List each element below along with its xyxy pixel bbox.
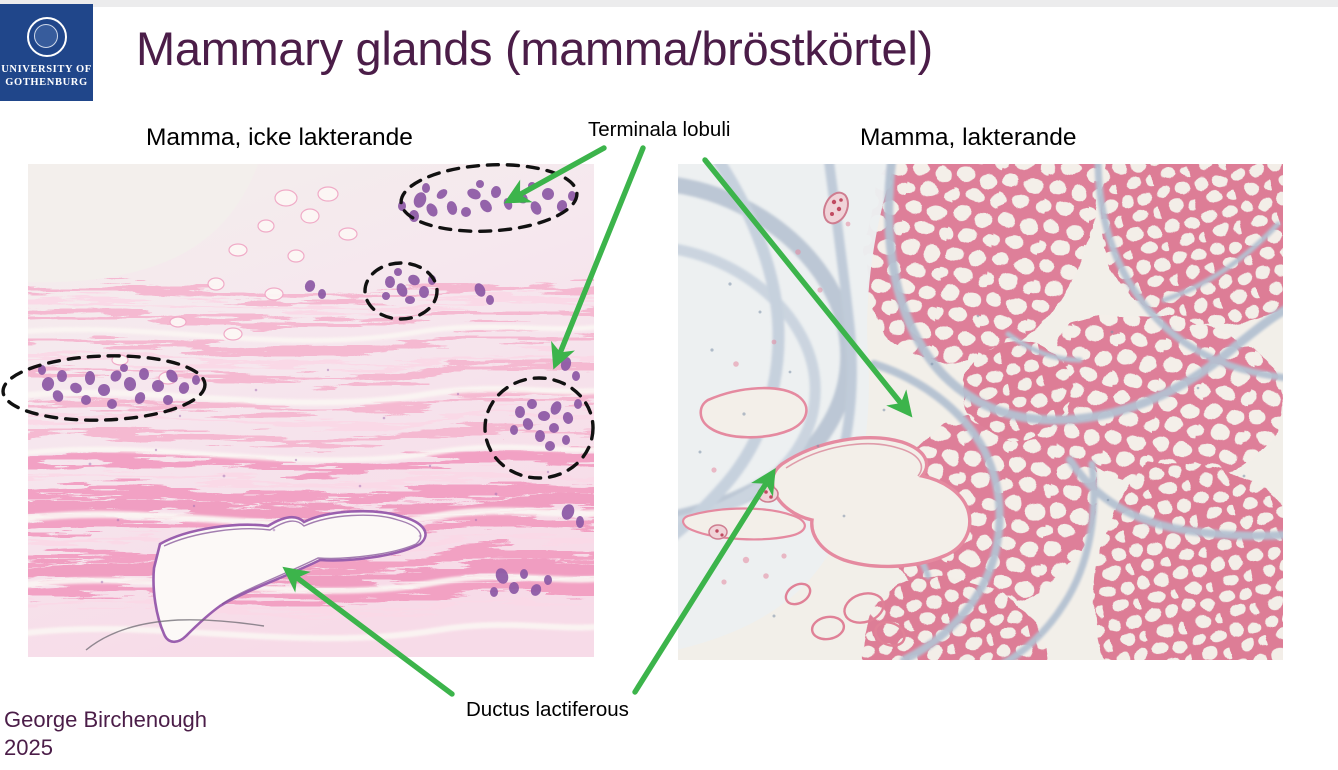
footer-year: 2025 <box>4 734 207 762</box>
micrograph-left-render <box>28 164 594 657</box>
footer-author: George Birchenough <box>4 706 207 734</box>
caption-terminala-lobuli: Terminala lobuli <box>588 118 730 142</box>
caption-right-panel: Mamma, lakterande <box>860 124 1077 152</box>
university-of-gothenburg-logo[interactable]: UNIVERSITY OF GOTHENBURG <box>0 4 93 101</box>
slide-canvas: UNIVERSITY OF GOTHENBURG Mammary glands … <box>0 0 1338 770</box>
caption-left-panel: Mamma, icke lakterande <box>146 124 413 152</box>
caption-ductus-lactiferous: Ductus lactiferous <box>466 698 629 722</box>
top-strip <box>0 0 1338 7</box>
university-seal-icon <box>27 17 67 57</box>
logo-line-1: UNIVERSITY OF <box>1 63 92 76</box>
logo-line-2: GOTHENBURG <box>5 76 87 89</box>
micrograph-lactating-mammary-gland <box>678 164 1283 660</box>
page-title: Mammary glands (mamma/bröstkörtel) <box>136 21 933 77</box>
micrograph-right-render <box>678 164 1283 660</box>
footer-credit: George Birchenough 2025 <box>4 706 207 762</box>
micrograph-non-lactating-mammary-gland <box>28 164 594 657</box>
